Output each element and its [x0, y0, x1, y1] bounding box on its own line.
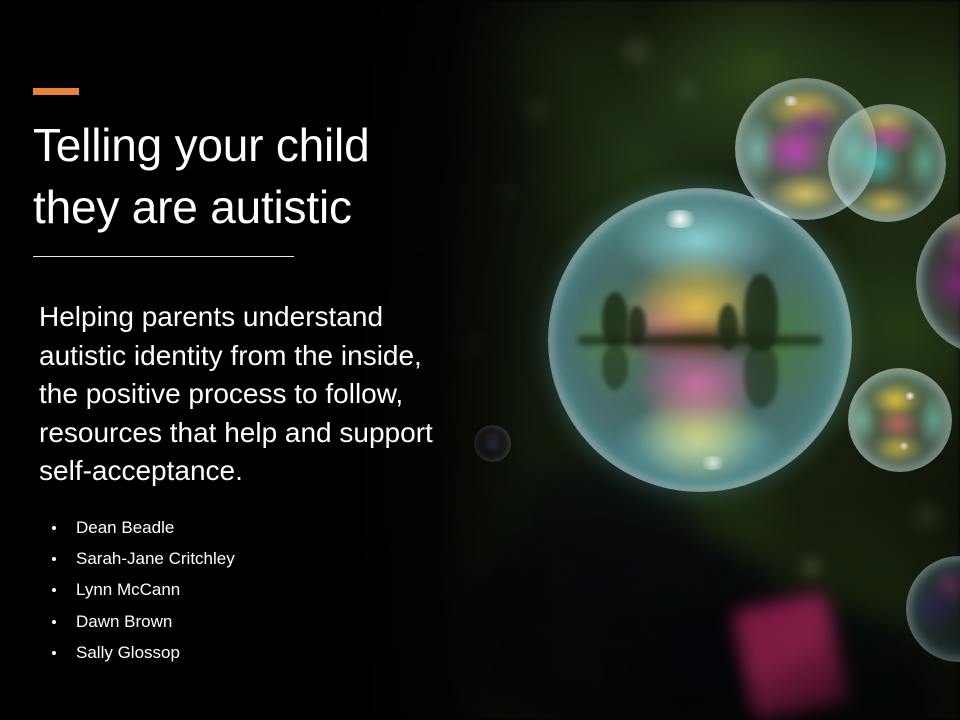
list-item: Dean Beadle: [45, 512, 465, 543]
bubble-specular-highlight: [904, 392, 916, 400]
presenter-name: Sarah-Jane Critchley: [76, 549, 235, 568]
bubble-specular-highlight-lower: [698, 456, 728, 470]
upper-right-soap-bubble-2: [828, 104, 946, 222]
bubble-specular-highlight: [660, 210, 700, 228]
presenter-name: Sally Glossop: [76, 643, 180, 662]
list-item: Lynn McCann: [45, 574, 465, 605]
bubble-rim-highlight: [848, 368, 952, 472]
presenter-name: Dawn Brown: [76, 612, 172, 631]
list-item: Sally Glossop: [45, 637, 465, 668]
presentation-slide: Telling your child they are autistic Hel…: [0, 0, 960, 720]
large-soap-bubble-with-landscape-reflection: [548, 188, 852, 492]
orange-accent-bar: [33, 88, 79, 95]
presenter-list: Dean BeadleSarah-Jane CritchleyLynn McCa…: [45, 512, 465, 668]
page-title: Telling your child they are autistic: [33, 114, 453, 238]
list-item: Sarah-Jane Critchley: [45, 543, 465, 574]
bubble-specular-highlight-lower: [898, 442, 910, 450]
list-item: Dawn Brown: [45, 606, 465, 637]
bubble-rim-highlight: [548, 188, 852, 492]
bubble-specular-highlight: [781, 96, 801, 106]
lower-right-soap-bubble: [848, 368, 952, 472]
title-divider-rule: [33, 256, 294, 257]
bubble-rim-highlight: [828, 104, 946, 222]
presenter-name: Dean Beadle: [76, 518, 174, 537]
slide-text-content: Telling your child they are autistic Hel…: [0, 0, 500, 720]
slide-subtitle: Helping parents understand autistic iden…: [39, 298, 475, 491]
presenter-name: Lynn McCann: [76, 580, 180, 599]
